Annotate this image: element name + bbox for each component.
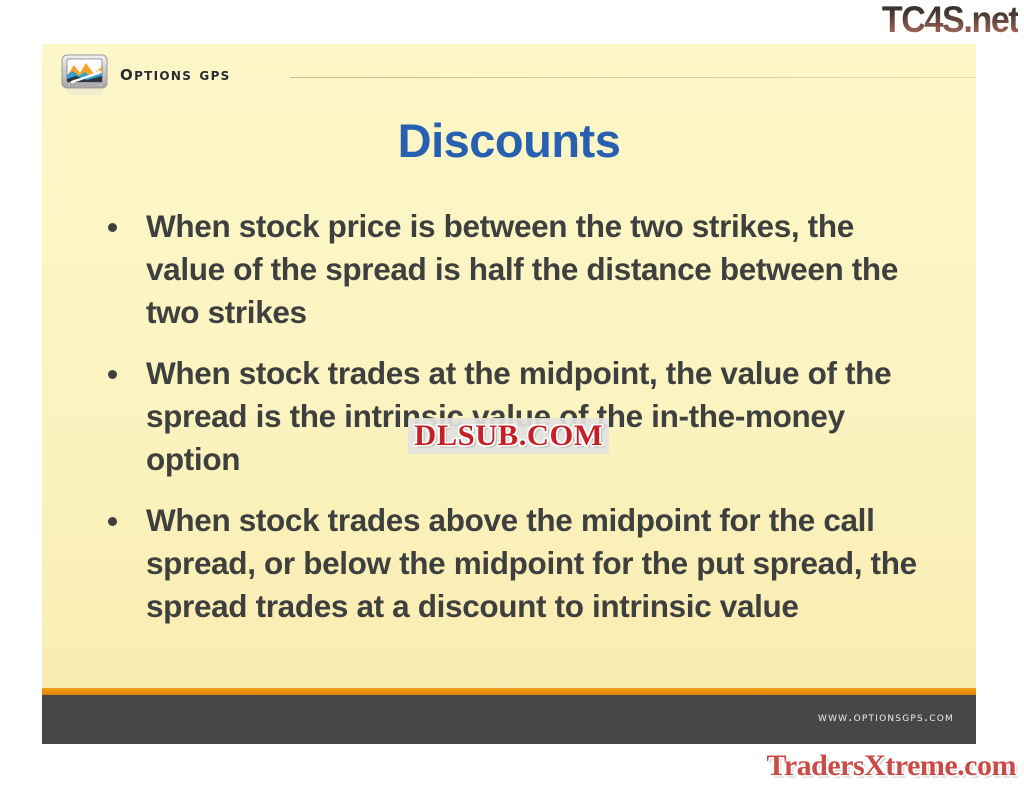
logo-title: Options GPS	[120, 61, 231, 85]
list-item: When stock trades at the midpoint, the v…	[100, 352, 928, 481]
header-divider	[290, 77, 976, 78]
list-item: When stock trades above the midpoint for…	[100, 499, 928, 628]
slide-header: Options GPS	[42, 44, 976, 100]
dlsub-watermark: DLSUB.COM	[408, 418, 609, 454]
footer-url: www.OptionsGPS.com	[818, 710, 954, 725]
footer-accent-stripe	[42, 688, 976, 695]
site-brand-top: TC4S.net	[882, 1, 1018, 39]
footer-bar: www.OptionsGPS.com	[42, 695, 976, 744]
list-item: When stock price is between the two stri…	[100, 205, 928, 334]
site-brand-bottom: TradersXtreme.com	[767, 749, 1016, 783]
bullet-list: When stock price is between the two stri…	[42, 165, 976, 628]
page-title: Discounts	[42, 100, 976, 165]
slide-footer: www.OptionsGPS.com	[42, 688, 976, 744]
presentation-slide: Options GPS Discounts When stock price i…	[42, 44, 976, 744]
gps-device-icon	[60, 52, 110, 96]
